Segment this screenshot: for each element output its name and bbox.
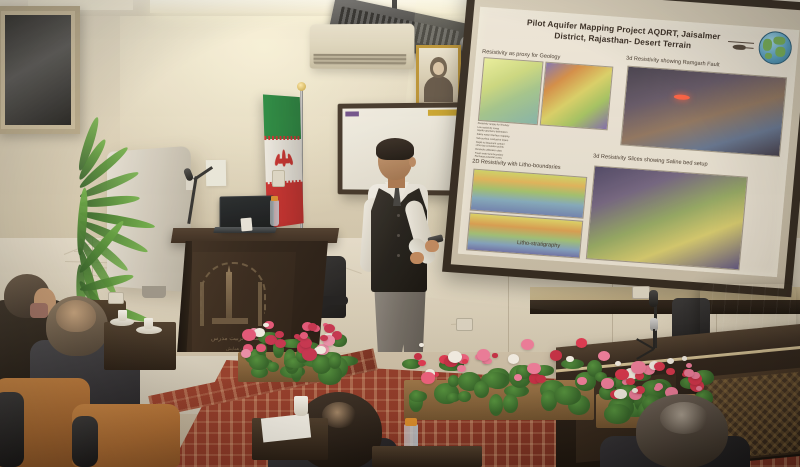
flower-bloom bbox=[631, 361, 645, 373]
audience-member-4-grey-hair bbox=[660, 402, 708, 434]
flower-bloom bbox=[419, 343, 424, 347]
whiteboard-brand-label bbox=[428, 109, 458, 115]
flower-bloom bbox=[632, 388, 638, 393]
flower-bloom bbox=[308, 323, 317, 331]
wall-power-outlet-right[interactable] bbox=[632, 286, 650, 299]
flower-bloom bbox=[686, 363, 692, 368]
flower-bloom bbox=[667, 358, 674, 364]
flower-foliage bbox=[249, 355, 269, 370]
split-air-conditioner bbox=[310, 24, 415, 70]
wall-notice-paper bbox=[206, 160, 226, 186]
slide-thumb-litho-stratigraphy bbox=[466, 212, 583, 258]
notepad[interactable] bbox=[261, 414, 311, 443]
flower-bloom bbox=[696, 386, 702, 391]
slide-thumb-resistivity-a bbox=[478, 57, 544, 125]
flower-bloom bbox=[448, 351, 462, 363]
side-table-right bbox=[372, 446, 482, 467]
flower-bloom bbox=[324, 324, 335, 333]
helicopter-icon bbox=[727, 41, 754, 52]
flower-foliage bbox=[267, 362, 278, 372]
audience-member-1-mask bbox=[30, 303, 48, 318]
audience-member-2-bald-spot bbox=[56, 300, 96, 332]
flower-bloom bbox=[316, 346, 326, 354]
wall-power-outlet-left[interactable] bbox=[108, 292, 124, 304]
portrait-face bbox=[433, 62, 444, 75]
slide-thumb-resistivity-b bbox=[540, 62, 614, 131]
flower-bloom bbox=[601, 378, 613, 388]
flower-bloom bbox=[598, 351, 610, 361]
flower-bloom bbox=[421, 372, 434, 383]
flower-bloom bbox=[256, 344, 265, 352]
portrait-body bbox=[424, 76, 453, 102]
desk-microphone-head[interactable] bbox=[649, 290, 658, 307]
framed-picture bbox=[0, 6, 80, 134]
water-bottle-foreground-cap bbox=[405, 418, 417, 426]
presenter-hand-right bbox=[425, 240, 439, 252]
whiteboard-label-left bbox=[345, 111, 359, 116]
portrait-image bbox=[419, 48, 458, 105]
flag-emblem bbox=[275, 150, 292, 168]
flower-bloom bbox=[508, 354, 519, 363]
air-conditioner-vent bbox=[314, 54, 407, 65]
flower-foliage bbox=[409, 391, 427, 402]
audience-chair-2-trim bbox=[72, 416, 98, 467]
flower-bloom bbox=[477, 349, 491, 361]
slide-thumb-2d-resistivity bbox=[470, 169, 588, 219]
flower-foliage bbox=[329, 354, 341, 369]
flag-pole-finial bbox=[297, 82, 306, 91]
podium-water-bottle-cap bbox=[271, 196, 278, 201]
logo-column-left bbox=[200, 282, 204, 326]
wall-switch-plate[interactable] bbox=[272, 170, 285, 187]
podium-arch-minaret-logo bbox=[196, 262, 266, 330]
logo-arch-shape bbox=[200, 262, 266, 314]
logo-column-right bbox=[258, 282, 262, 326]
flower-bloom bbox=[294, 334, 300, 339]
podium-water-bottle bbox=[270, 200, 279, 226]
flag-green-band bbox=[263, 94, 301, 139]
flower-bloom bbox=[566, 356, 573, 362]
flower-bloom bbox=[514, 374, 522, 381]
flower-bloom bbox=[300, 332, 308, 339]
desk-microphone-tripod bbox=[636, 346, 674, 350]
flower-bloom bbox=[626, 378, 634, 385]
flower-bloom bbox=[462, 359, 468, 364]
flower-bloom bbox=[241, 349, 251, 358]
framed-picture-image bbox=[5, 15, 71, 125]
logo-base bbox=[212, 318, 248, 324]
flower-bloom bbox=[275, 339, 286, 348]
projection-screen: Pilot Aquifer Mapping Project AQDRT, Jai… bbox=[442, 0, 800, 297]
microphone-tripod-leg bbox=[653, 329, 655, 349]
flower-foliage bbox=[458, 391, 472, 402]
teacup-2 bbox=[144, 318, 153, 329]
flower-bloom bbox=[614, 389, 626, 400]
logo-minaret bbox=[226, 272, 232, 318]
flower-bloom bbox=[550, 350, 562, 361]
laptop-name-card bbox=[240, 218, 252, 232]
presentation-slide: Pilot Aquifer Mapping Project AQDRT, Jai… bbox=[458, 7, 800, 277]
presenter-hand-left bbox=[410, 252, 424, 264]
conference-hall-photo: Pilot Aquifer Mapping Project AQDRT, Jai… bbox=[0, 0, 800, 467]
flower-foliage bbox=[554, 386, 581, 404]
slide-thumb-3d-ramgarh-fault bbox=[620, 66, 787, 157]
flower-bloom bbox=[263, 323, 268, 328]
flower-foliage bbox=[503, 394, 518, 413]
slide-thumb-3d-saline-slices bbox=[586, 165, 748, 270]
presenter-ear bbox=[409, 157, 416, 167]
flower-bloom bbox=[576, 338, 587, 347]
flower-bloom bbox=[302, 348, 317, 361]
presenter-hair bbox=[376, 138, 414, 160]
flower-bloom bbox=[682, 356, 687, 361]
teacup-1 bbox=[118, 310, 127, 321]
audience-chair-1-trim bbox=[0, 392, 24, 467]
wall-power-outlet-center[interactable] bbox=[456, 318, 473, 331]
projection-screen-surface: Pilot Aquifer Mapping Project AQDRT, Jai… bbox=[451, 0, 800, 289]
paper-cup bbox=[294, 396, 308, 416]
flower-bloom bbox=[492, 353, 497, 358]
framed-portrait bbox=[416, 45, 461, 108]
